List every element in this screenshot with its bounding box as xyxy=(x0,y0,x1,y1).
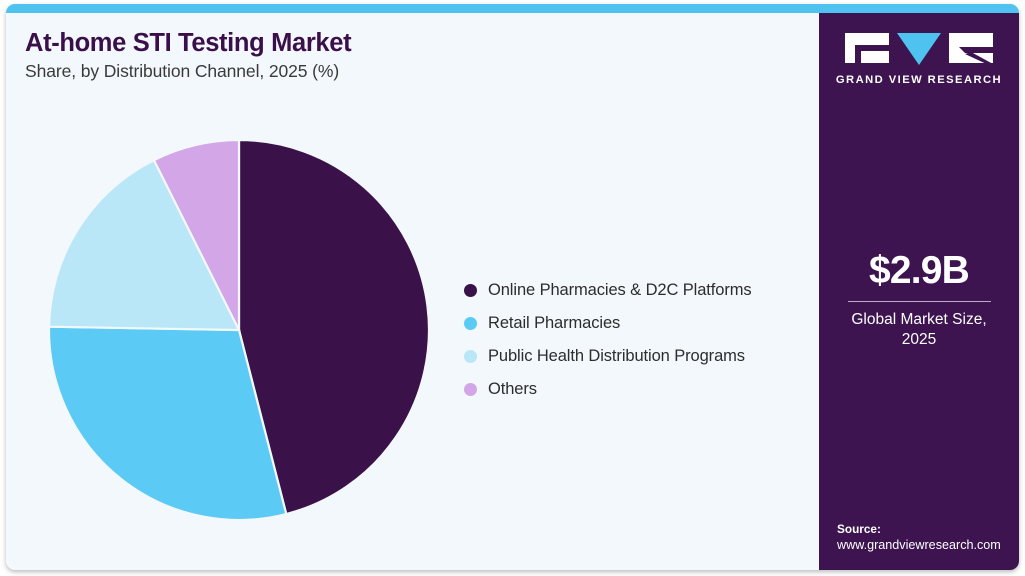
pie-chart xyxy=(44,135,434,525)
legend-item-label: Online Pharmacies & D2C Platforms xyxy=(488,281,752,300)
source-block: Source: www.grandviewresearch.com xyxy=(837,522,1013,552)
chart-card: At-home STI Testing Market Share, by Dis… xyxy=(6,4,1019,570)
side-panel: GRAND VIEW RESEARCH $2.9B Global Market … xyxy=(819,13,1019,570)
legend-color-swatch-icon xyxy=(464,350,477,363)
legend-color-swatch-icon xyxy=(464,383,477,396)
top-accent-bar xyxy=(6,4,1019,13)
source-url[interactable]: www.grandviewresearch.com xyxy=(837,538,1013,552)
market-size-stat: $2.9B Global Market Size, 2025 xyxy=(819,251,1019,351)
pie-chart-svg xyxy=(44,135,434,525)
pie-slice-group xyxy=(49,140,429,520)
brand-logo: GRAND VIEW RESEARCH xyxy=(819,31,1019,86)
chart-main-area: At-home STI Testing Market Share, by Dis… xyxy=(6,13,819,570)
legend-color-swatch-icon xyxy=(464,317,477,330)
legend-item[interactable]: Retail Pharmacies xyxy=(464,307,814,340)
legend-item[interactable]: Online Pharmacies & D2C Platforms xyxy=(464,274,814,307)
legend-item-label: Public Health Distribution Programs xyxy=(488,347,745,366)
page-title: At-home STI Testing Market xyxy=(25,29,351,58)
gvr-logo-icon xyxy=(845,31,993,67)
legend-item-label: Others xyxy=(488,380,537,399)
legend-item[interactable]: Others xyxy=(464,373,814,406)
stat-value: $2.9B xyxy=(819,251,1019,292)
page-subtitle: Share, by Distribution Channel, 2025 (%) xyxy=(25,61,339,82)
source-label: Source: xyxy=(837,522,1013,536)
legend-color-swatch-icon xyxy=(464,284,477,297)
legend-item-label: Retail Pharmacies xyxy=(488,314,620,333)
brand-wordmark: GRAND VIEW RESEARCH xyxy=(819,74,1019,86)
legend-item[interactable]: Public Health Distribution Programs xyxy=(464,340,814,373)
stat-caption: Global Market Size, 2025 xyxy=(819,310,1019,351)
chart-legend: Online Pharmacies & D2C PlatformsRetail … xyxy=(464,274,814,406)
stat-divider xyxy=(848,301,991,302)
